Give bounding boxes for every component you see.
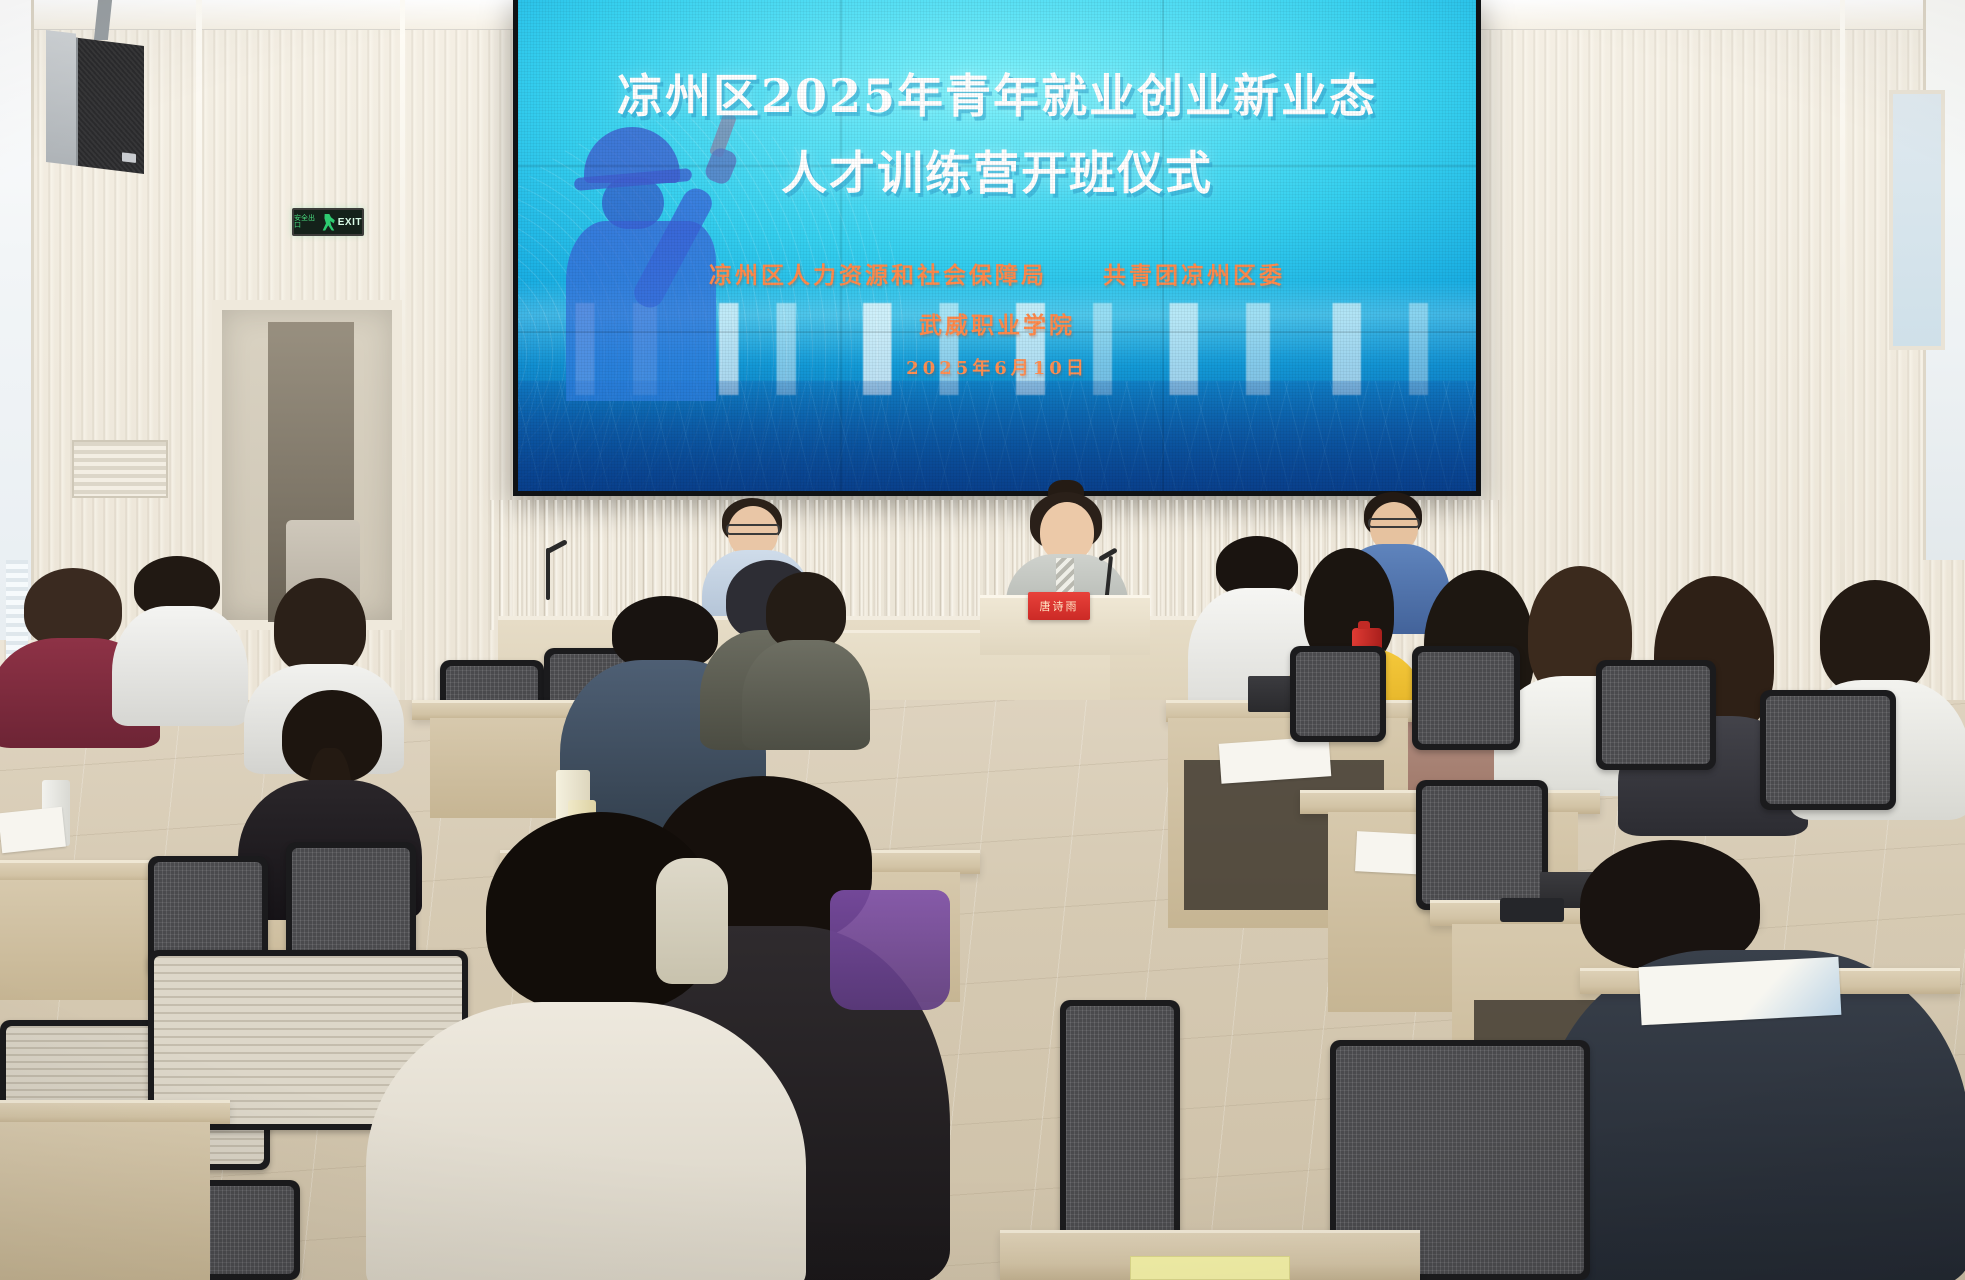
led-display-frame: 凉州区2025年青年就业创业新业态 人才训练营开班仪式 凉州区人力资源和社会保障… [513,0,1481,496]
banner-text-block: 凉州区2025年青年就业创业新业态 人才训练营开班仪式 凉州区人力资源和社会保障… [518,0,1476,380]
running-man-icon [322,214,335,231]
audience-person-foreground [356,812,816,1280]
microphone-icon [546,548,550,600]
paper-sheet [0,807,66,853]
audience-chair [1290,646,1386,742]
led-display-surface: 凉州区2025年青年就业创业新业态 人才训练营开班仪式 凉州区人力资源和社会保障… [518,0,1476,491]
audience-person [108,556,238,726]
audience-chair [1416,780,1548,910]
organizer-1-label: 凉州区人力资源和社会保障局 [709,262,1047,289]
eyeglasses-icon [1368,518,1420,528]
eyeglasses-icon [726,524,780,535]
window-left [0,0,34,640]
window-pane-right [1889,90,1945,350]
head-table-nameplate: 唐诗雨 [1028,592,1090,620]
paper-sheet [1219,736,1332,784]
audience-person [742,566,868,736]
exit-sign-cn-label: 安全出口 [294,215,319,229]
exit-sign-en-label: EXIT [338,217,362,228]
banner-organizers-line-1: 凉州区人力资源和社会保障局 共青团凉州区委 [518,256,1476,290]
backpack [830,890,950,1010]
organizer-2-label: 共青团凉州区委 [1103,262,1285,289]
paper-sheet [1639,957,1842,1025]
audience-chair [1412,646,1520,750]
audience-chair [1596,660,1716,770]
audience-desk [0,1100,230,1124]
yellow-label-slip [1130,1256,1290,1280]
banner-date-label: 2025年6月10日 [518,354,1476,380]
emergency-exit-icon: 安全出口 EXIT [292,208,364,236]
ceiling-speaker-icon [46,30,144,174]
banner-title-line-1: 凉州区2025年青年就业创业新业态 [518,71,1476,122]
banner-title-line-2: 人才训练营开班仪式 [518,148,1476,199]
organizer-3-label: 武威职业学院 [518,306,1476,340]
audience-person-foreground [1540,840,1965,1280]
audience-desk-front [0,1122,210,1280]
wall-seam-far-right [1840,0,1845,640]
wall-air-vent [72,440,168,498]
hair-clip-icon [656,858,728,984]
nameplate-text: 唐诗雨 [1040,598,1079,614]
audience-chair [1760,690,1896,810]
conference-room-photo: 安全出口 EXIT 凉州区2025年青年就业创业新 [0,0,1965,1280]
